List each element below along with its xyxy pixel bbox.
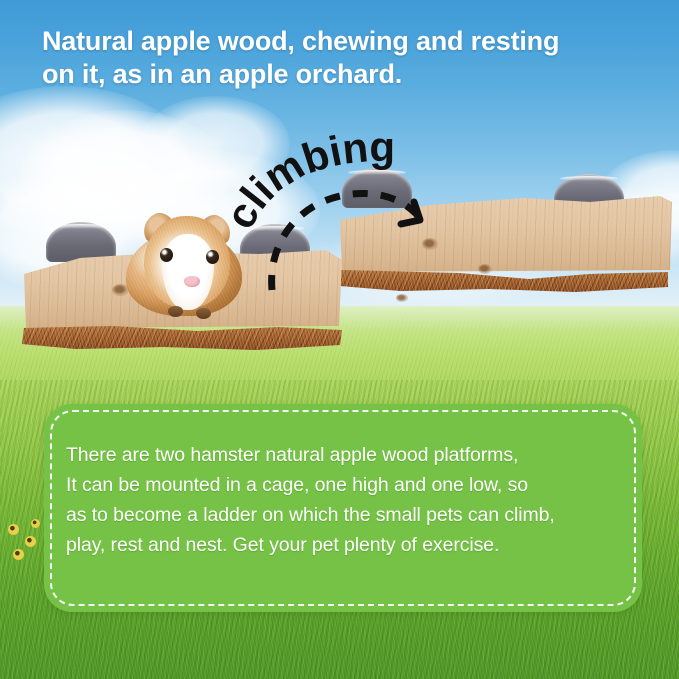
guinea-pig-eye-left bbox=[160, 248, 173, 262]
guinea-pig-nose bbox=[184, 276, 200, 287]
guinea-pig-eye-right bbox=[206, 250, 219, 264]
flower-icon bbox=[13, 549, 24, 560]
headline-text: Natural apple wood, chewing and resting … bbox=[42, 25, 662, 91]
guinea-pig-paw bbox=[168, 306, 183, 317]
guinea-pig-paw bbox=[196, 308, 211, 319]
wood-knot bbox=[478, 264, 492, 274]
wood-bark-edge bbox=[16, 326, 344, 350]
climbing-label: climbing bbox=[246, 150, 436, 240]
flower-icon bbox=[31, 519, 40, 528]
product-infographic: Natural apple wood, chewing and resting … bbox=[0, 0, 679, 679]
description-card: There are two hamster natural apple wood… bbox=[44, 404, 642, 612]
suction-cup-icon bbox=[46, 222, 116, 262]
wood-knot bbox=[396, 294, 408, 302]
flower-icon bbox=[8, 524, 19, 535]
guinea-pig-image bbox=[122, 206, 246, 318]
wood-bark-edge bbox=[339, 270, 670, 292]
description-text: There are two hamster natural apple wood… bbox=[66, 440, 622, 560]
flower-icon bbox=[25, 536, 36, 547]
